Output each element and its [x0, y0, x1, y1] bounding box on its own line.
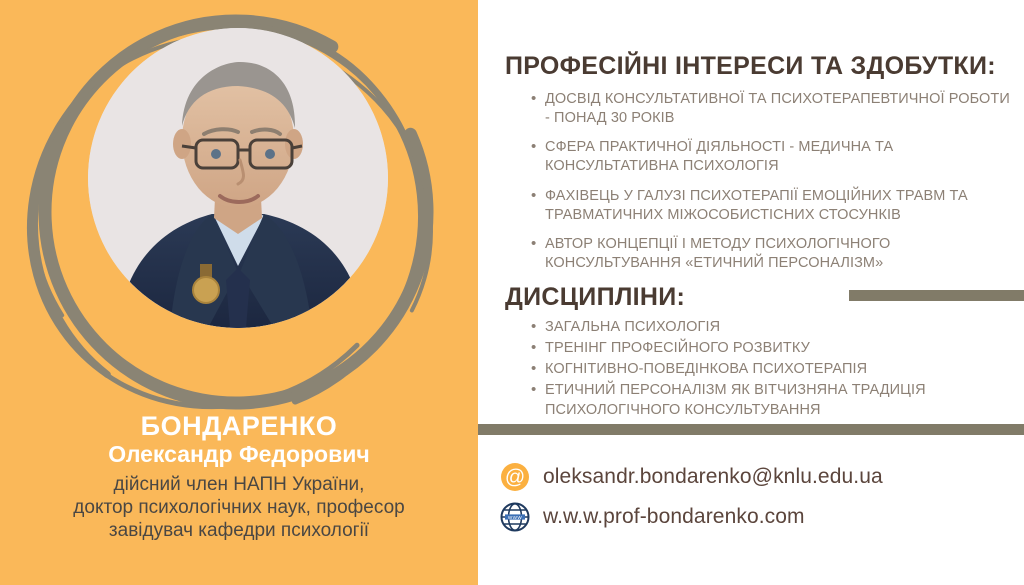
title-line: завідувач кафедри психології: [0, 519, 478, 542]
left-orange-panel: БОНДАРЕНКО Олександр Федорович дійсний ч…: [0, 0, 478, 585]
portrait-photo: [88, 28, 388, 328]
contact-email-row[interactable]: @ oleksandr.bondarenko@knlu.edu.ua: [500, 462, 883, 492]
svg-text:@: @: [505, 467, 525, 489]
given-name: Олександр Федорович: [0, 442, 478, 468]
list-item: СФЕРА ПРАКТИЧНОЇ ДІЯЛЬНОСТІ - МЕДИЧНА ТА…: [545, 138, 1015, 176]
title-line: доктор психологічних наук, професор: [0, 496, 478, 519]
title-line: дійсний член НАПН України,: [0, 473, 478, 496]
at-sign-icon: @: [500, 462, 530, 492]
website-url[interactable]: w.w.w.prof-bondarenko.com: [543, 505, 805, 529]
disciplines-list: ЗАГАЛЬНА ПСИХОЛОГІЯ ТРЕНІНГ ПРОФЕСІЙНОГО…: [505, 318, 1015, 422]
right-content-panel: ПРОФЕСІЙНІ ІНТЕРЕСИ ТА ЗДОБУТКИ: ДОСВІД …: [478, 0, 1024, 585]
list-item: ЗАГАЛЬНА ПСИХОЛОГІЯ: [545, 318, 1015, 337]
heading-disciplines: ДИСЦИПЛІНИ:: [505, 283, 685, 312]
list-item: АВТОР КОНЦЕПЦІЇ І МЕТОДУ ПСИХОЛОГІЧНОГО …: [545, 235, 1015, 273]
list-item: ДОСВІД КОНСУЛЬТАТИВНОЇ ТА ПСИХОТЕРАПЕВТИ…: [545, 90, 1015, 128]
list-item: ФАХІВЕЦЬ У ГАЛУЗІ ПСИХОТЕРАПІЇ ЕМОЦІЙНИХ…: [545, 187, 1015, 225]
globe-icon: WWW: [500, 502, 530, 532]
list-item: КОГНІТИВНО-ПОВЕДІНКОВА ПСИХОТЕРАПІЯ: [545, 360, 1015, 379]
divider-bar-bottom: [478, 424, 1024, 435]
titles-list: дійсний член НАПН України, доктор психол…: [0, 473, 478, 543]
list-item: ЕТИЧНИЙ ПЕРСОНАЛІЗМ ЯК ВІТЧИЗНЯНА ТРАДИЦ…: [545, 381, 1015, 419]
surname: БОНДАРЕНКО: [0, 412, 478, 441]
divider-bar-top: [849, 290, 1024, 301]
email-address[interactable]: oleksandr.bondarenko@knlu.edu.ua: [543, 465, 883, 489]
interests-list: ДОСВІД КОНСУЛЬТАТИВНОЇ ТА ПСИХОТЕРАПЕВТИ…: [505, 90, 1015, 283]
svg-text:WWW: WWW: [508, 515, 522, 520]
heading-professional-interests: ПРОФЕСІЙНІ ІНТЕРЕСИ ТА ЗДОБУТКИ:: [505, 52, 996, 81]
list-item: ТРЕНІНГ ПРОФЕСІЙНОГО РОЗВИТКУ: [545, 339, 1015, 358]
name-block: БОНДАРЕНКО Олександр Федорович дійсний ч…: [0, 412, 478, 542]
business-card-slide: БОНДАРЕНКО Олександр Федорович дійсний ч…: [0, 0, 1024, 585]
contact-website-row[interactable]: WWW w.w.w.prof-bondarenko.com: [500, 502, 805, 532]
